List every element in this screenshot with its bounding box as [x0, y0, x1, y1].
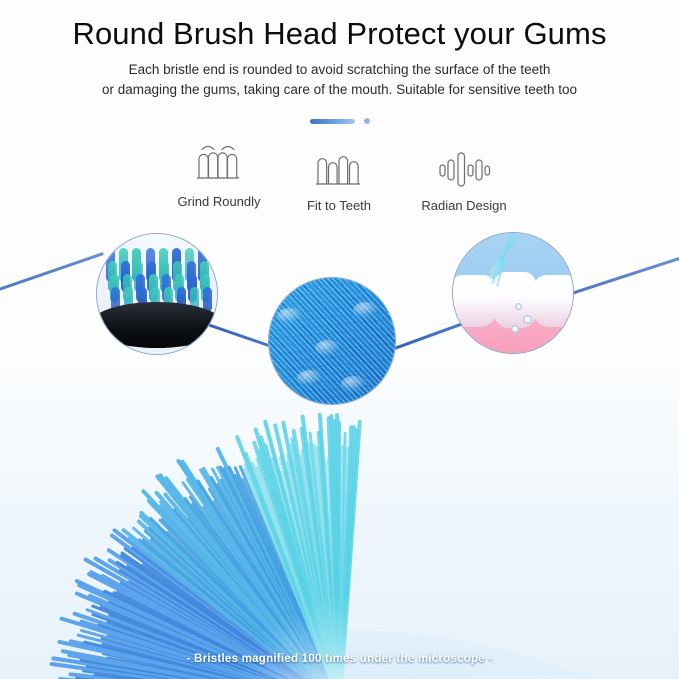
page-title: Round Brush Head Protect your Gums	[0, 18, 679, 51]
cleaning-bubble	[523, 315, 532, 324]
rounded-bristle-tips-icon	[153, 138, 285, 184]
cleaning-bubble	[515, 303, 522, 310]
pagination-indicator[interactable]	[0, 118, 679, 124]
teeth-and-gums-illustration	[452, 232, 574, 354]
cleaning-bubble	[511, 325, 519, 333]
infographic-page: Round Brush Head Protect your Gums Each …	[0, 0, 679, 679]
subtitle-line-1: Each bristle end is rounded to avoid scr…	[0, 60, 679, 80]
feature-item-radian-design[interactable]: Radian Design	[398, 142, 530, 213]
feature-item-grind-roundly[interactable]: Grind Roundly	[153, 138, 285, 209]
brush-head-base	[96, 302, 218, 348]
header: Round Brush Head Protect your Gums Each …	[0, 0, 679, 100]
subtitle-line-2: or damaging the gums, taking care of the…	[0, 80, 679, 100]
magnified-bristle-texture	[268, 277, 396, 405]
texture-highlight	[277, 308, 303, 324]
texture-highlight	[297, 370, 323, 386]
mouth-scene	[453, 233, 573, 353]
feature-item-fit-to-teeth[interactable]: Fit to Teeth	[278, 142, 400, 213]
brush-head-scene	[97, 234, 217, 354]
feature-label: Grind Roundly	[153, 194, 285, 209]
texture-highlight	[341, 376, 367, 392]
feature-label: Fit to Teeth	[278, 198, 400, 213]
pager-dot[interactable]	[364, 118, 370, 124]
bristle-strand	[489, 232, 525, 274]
pager-active-bar[interactable]	[310, 119, 355, 124]
brush-head-photo	[96, 233, 218, 355]
texture-highlight	[315, 340, 341, 356]
footer-caption: - Bristles magnified 100 times under the…	[0, 653, 679, 665]
bristle-texture-surface	[269, 278, 395, 404]
bristle-bars-icon	[278, 142, 400, 188]
connector-line-outer-right	[556, 257, 679, 300]
feature-label: Radian Design	[398, 198, 530, 213]
texture-highlight	[353, 302, 379, 318]
detail-circles-row	[0, 215, 679, 405]
connector-line-outer-left	[0, 252, 104, 294]
tooth	[533, 275, 574, 327]
waveform-bristle-icon	[398, 142, 530, 188]
